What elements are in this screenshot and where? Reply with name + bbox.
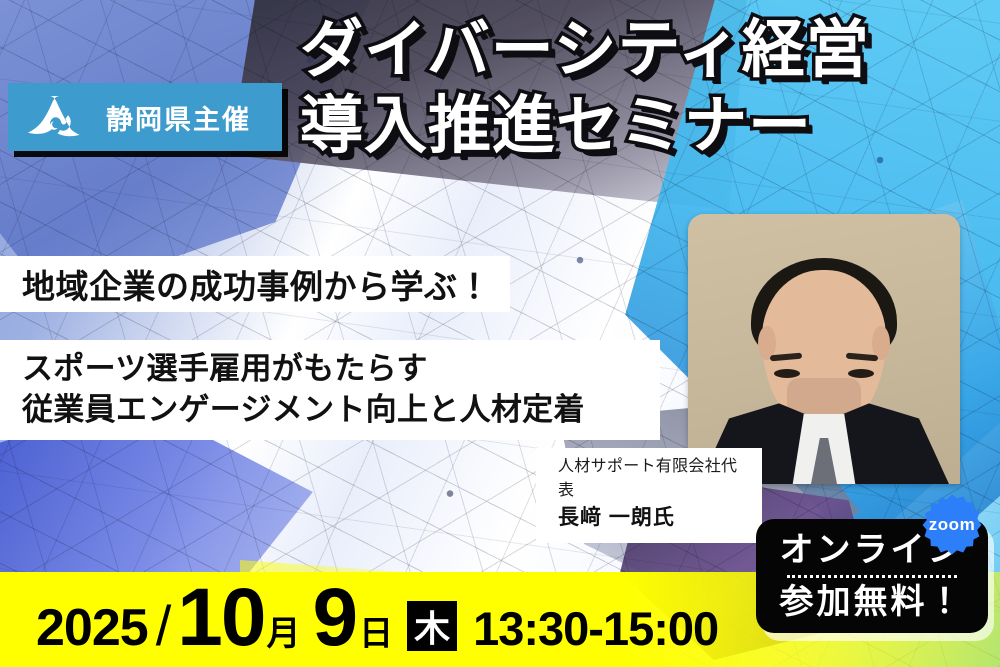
date-year: 2025	[36, 598, 148, 658]
portrait-eye-left	[774, 369, 800, 378]
subtitle-line-1: スポーツ選手雇用がもたらす	[22, 348, 660, 389]
date-month-unit: 月	[266, 606, 300, 655]
date-weekday-badge: 木	[407, 601, 457, 651]
seminar-banner: 静岡県主催 ダイバーシティ経営 導入推進セミナー 地域企業の成功事例から学ぶ！ …	[0, 0, 1000, 667]
date-day-unit: 日	[359, 606, 393, 655]
online-badge-divider	[787, 575, 957, 578]
mount-fuji-icon	[22, 94, 96, 140]
date-bar-content: 2025 / 10 月 9 日 木 13:30-15:00	[0, 581, 718, 658]
subtitle-highlight-text: 地域企業の成功事例から学ぶ！	[22, 260, 491, 308]
speaker-credit: 人材サポート有限会社代表 長﨑 一朗氏	[536, 448, 762, 543]
portrait-eye-right	[848, 369, 874, 378]
date-month: 10	[177, 581, 264, 655]
date-day: 9	[312, 581, 356, 655]
speaker-portrait	[688, 214, 960, 484]
date-time: 13:30-15:00	[473, 601, 718, 656]
subtitle-highlight-panel: 地域企業の成功事例から学ぶ！	[0, 256, 510, 312]
zoom-burst-icon: zoom	[920, 493, 984, 557]
main-title-line-1: ダイバーシティ経営	[300, 14, 990, 88]
main-title-line-2: 導入推進セミナー	[300, 90, 990, 164]
host-badge: 静岡県主催	[8, 83, 282, 151]
speaker-name: 長﨑 一朗氏	[558, 503, 750, 532]
subtitle-line-2: 従業員エンゲージメント向上と人材定着	[22, 389, 660, 430]
main-title: ダイバーシティ経営 導入推進セミナー	[300, 14, 990, 163]
speaker-organization: 人材サポート有限会社代表	[558, 455, 750, 503]
online-badge-line-2: 参加無料！	[780, 582, 965, 622]
host-badge-label: 静岡県主催	[106, 98, 251, 137]
date-separator: /	[156, 593, 172, 658]
subtitle-panel: スポーツ選手雇用がもたらす 従業員エンゲージメント向上と人材定着	[0, 340, 660, 440]
zoom-label: zoom	[920, 493, 984, 557]
